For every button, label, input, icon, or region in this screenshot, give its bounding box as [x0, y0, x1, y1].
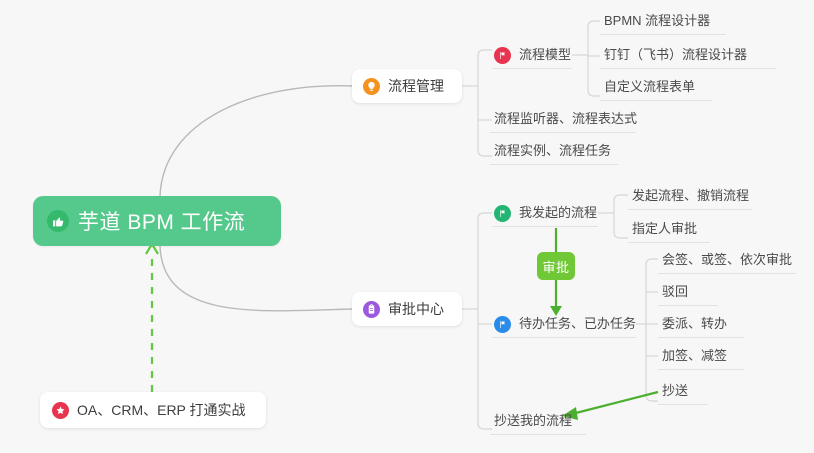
tag-badge-approval[interactable]: 审批 [537, 252, 575, 280]
node-reject[interactable]: 驳回 [658, 281, 718, 306]
node-carbon-copy[interactable]: 抄送 [658, 380, 708, 405]
node-my-initiated-process-label: 我发起的流程 [519, 204, 597, 222]
branch-process-management[interactable]: 流程管理 [352, 69, 462, 103]
node-process-model-label: 流程模型 [519, 46, 571, 64]
node-process-model[interactable]: 流程模型 [492, 44, 572, 69]
node-add-remove-sign[interactable]: 加签、减签 [658, 345, 744, 370]
note-card-label: OA、CRM、ERP 打通实战 [77, 400, 246, 420]
note-card-integration[interactable]: OA、CRM、ERP 打通实战 [40, 392, 266, 428]
lightbulb-icon [363, 78, 380, 95]
node-delegate-transfer[interactable]: 委派、转办 [658, 313, 744, 338]
node-start-cancel-process[interactable]: 发起流程、撤销流程 [628, 185, 752, 210]
node-designated-approver[interactable]: 指定人审批 [628, 218, 710, 243]
clipboard-icon [363, 301, 380, 318]
node-cc-to-me-process[interactable]: 抄送我的流程 [490, 410, 586, 435]
mindmap-canvas: 芋道 BPM 工作流 流程管理 审批中心 OA、CRM、ERP 打通实战 审批 [0, 0, 814, 453]
flag-icon [494, 205, 511, 222]
flag-icon [494, 47, 511, 64]
node-dingtalk-feishu-designer[interactable]: 钉钉（飞书）流程设计器 [600, 44, 776, 69]
node-countersign-orsign-sequential[interactable]: 会签、或签、依次审批 [658, 249, 796, 274]
node-process-instance-task[interactable]: 流程实例、流程任务 [490, 140, 618, 165]
node-todo-done-task-label: 待办任务、已办任务 [519, 315, 636, 333]
node-process-listener-expression[interactable]: 流程监听器、流程表达式 [490, 108, 636, 133]
root-label: 芋道 BPM 工作流 [78, 206, 245, 236]
flag-icon [494, 316, 511, 333]
root-node[interactable]: 芋道 BPM 工作流 [33, 196, 281, 246]
node-bpmn-designer[interactable]: BPMN 流程设计器 [600, 10, 726, 35]
node-my-initiated-process[interactable]: 我发起的流程 [492, 202, 598, 227]
thumbs-up-icon [47, 210, 69, 232]
star-icon [52, 402, 69, 419]
branch-approval-center-label: 审批中心 [388, 299, 444, 319]
node-todo-done-task[interactable]: 待办任务、已办任务 [492, 313, 636, 338]
branch-process-management-label: 流程管理 [388, 76, 444, 96]
branch-approval-center[interactable]: 审批中心 [352, 292, 462, 326]
node-custom-process-form[interactable]: 自定义流程表单 [600, 76, 712, 101]
